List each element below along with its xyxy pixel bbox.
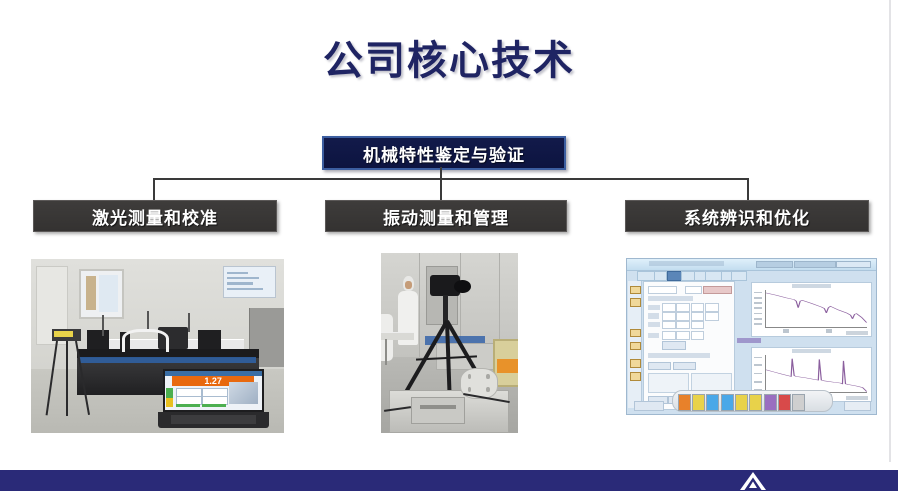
diagram-branch-node-2[interactable]: 振动测量和管理 (325, 200, 567, 232)
connector-horizontal-bus (153, 178, 749, 180)
app-titlebar (627, 259, 876, 271)
magnitude-curve (766, 290, 867, 327)
app-status-right (844, 401, 871, 411)
connector-drop-3 (747, 178, 749, 200)
target-post-3 (188, 313, 190, 332)
page-title: 公司核心技术 (0, 28, 898, 86)
app-tabbar (637, 271, 747, 280)
diagram-branch-node-3[interactable]: 系统辨识和优化 (625, 200, 869, 232)
magnitude-legend (737, 338, 762, 343)
target-post-1 (102, 315, 104, 336)
phase-curve (766, 355, 867, 392)
laser-interferometer-tripod (49, 329, 84, 416)
connector-drop-1 (153, 178, 155, 200)
system-identification-software-photo (626, 258, 877, 415)
app-status-left (634, 401, 663, 411)
cable-loop (122, 329, 168, 353)
lab-scene-2 (381, 253, 518, 433)
diagram-branch-label-1: 激光测量和校准 (92, 204, 218, 229)
diagram-branch-node-1[interactable]: 激光测量和校准 (33, 200, 277, 232)
diagram-branch-label-2: 振动测量和管理 (383, 204, 509, 229)
measurement-laptop: 1.27 (163, 369, 264, 428)
laser-metrology-lab-photo: 1.27 (31, 259, 284, 433)
app-left-rail (628, 281, 641, 408)
triangle-a-logo (733, 470, 773, 491)
magnitude-plot (751, 282, 873, 337)
vibration-cleanroom-photo (381, 253, 518, 433)
optic-module-1 (87, 330, 110, 349)
app-bottom-dock (672, 390, 833, 412)
optic-module-3 (198, 330, 221, 349)
connector-drop-2 (440, 178, 442, 200)
diagram-root-label: 机械特性鉴定与验证 (363, 141, 525, 166)
wall-poster (79, 269, 123, 318)
slide-root: 公司核心技术 机械特性鉴定与验证 激光测量和校准 振动测量和管理 系统辨识和优化 (0, 0, 898, 491)
lab-scene-1: 1.27 (31, 259, 284, 433)
bench-blue-stripe (79, 357, 256, 362)
wall-monitor (223, 266, 276, 298)
footer-bar (0, 470, 898, 491)
sysid-app-window (626, 258, 877, 415)
diagram-root-node[interactable]: 机械特性鉴定与验证 (322, 136, 566, 170)
diagram-branch-label-3: 系统辨识和优化 (684, 204, 810, 229)
